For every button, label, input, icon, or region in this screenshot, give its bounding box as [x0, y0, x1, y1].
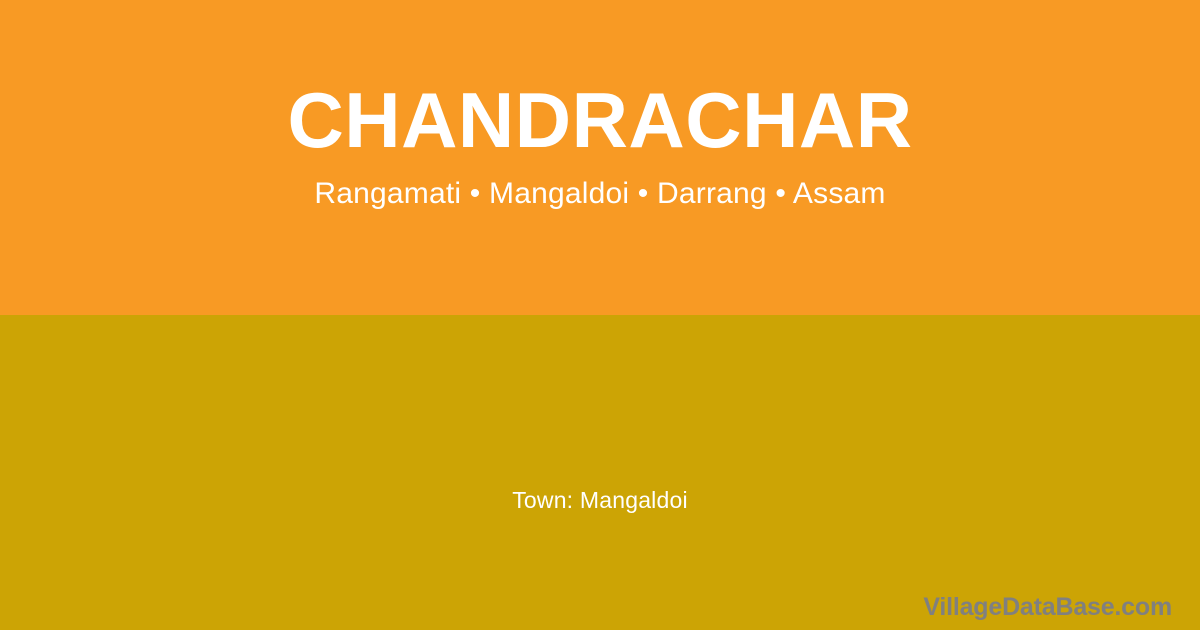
page-title: CHANDRACHAR [287, 78, 912, 162]
village-info-card: CHANDRACHAR Rangamati • Mangaldoi • Darr… [0, 0, 1200, 630]
details-band: Town: Mangaldoi [0, 315, 1200, 630]
site-watermark: VillageDataBase.com [923, 592, 1172, 622]
header-band: CHANDRACHAR Rangamati • Mangaldoi • Darr… [0, 0, 1200, 315]
town-detail: Town: Mangaldoi [0, 485, 1200, 515]
breadcrumb: Rangamati • Mangaldoi • Darrang • Assam [314, 176, 885, 212]
